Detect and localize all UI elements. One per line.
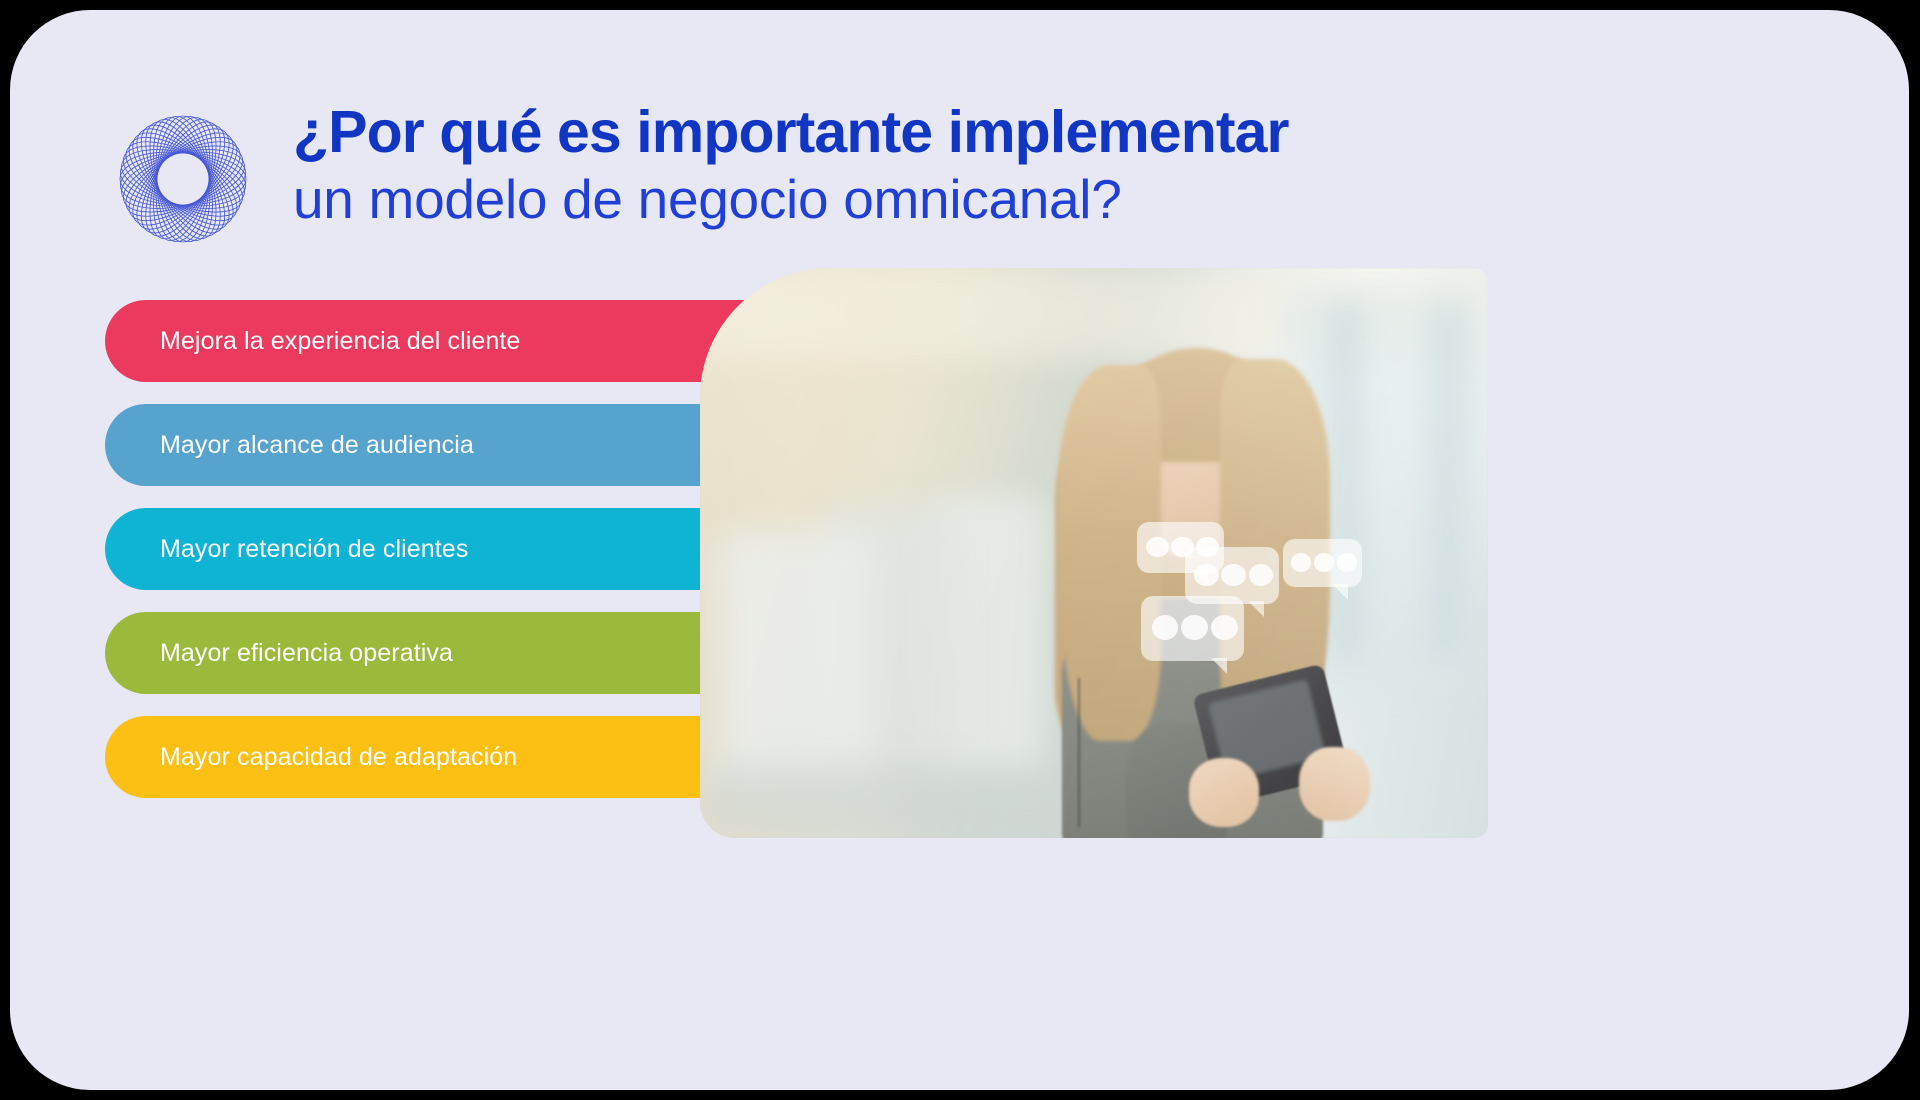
spirograph-ring-logo bbox=[102, 98, 264, 260]
chat-dot bbox=[1221, 564, 1246, 586]
page-title: ¿Por qué es importante implementar un mo… bbox=[293, 102, 1473, 232]
chat-dot bbox=[1146, 537, 1169, 556]
benefit-label: Mayor capacidad de adaptación bbox=[105, 743, 517, 772]
chat-dot bbox=[1211, 615, 1238, 640]
glass-mullion-shape bbox=[1439, 302, 1456, 655]
chat-dot bbox=[1291, 553, 1311, 571]
chat-dot bbox=[1194, 564, 1219, 586]
chat-bubble-icon bbox=[1141, 596, 1243, 662]
hero-photo bbox=[700, 268, 1488, 838]
woman-hand-right bbox=[1299, 747, 1370, 821]
office-chair-shape bbox=[716, 530, 874, 792]
chat-dot bbox=[1337, 553, 1357, 571]
benefit-label: Mayor eficiencia operativa bbox=[105, 639, 453, 668]
chat-bubble-icon bbox=[1283, 539, 1362, 587]
content-card: ¿Por qué es importante implementar un mo… bbox=[10, 10, 1909, 1090]
benefit-label: Mayor alcance de audiencia bbox=[105, 431, 474, 460]
chat-dot bbox=[1249, 564, 1274, 586]
glass-mullion-shape bbox=[1337, 302, 1354, 655]
chat-dot bbox=[1314, 553, 1334, 571]
title-line-1: ¿Por qué es importante implementar bbox=[293, 102, 1473, 163]
woman-hand-left bbox=[1189, 758, 1260, 826]
chat-dot bbox=[1181, 615, 1208, 640]
chat-dot bbox=[1152, 615, 1179, 640]
title-line-2: un modelo de negocio omnicanal? bbox=[293, 167, 1473, 232]
photo-composition bbox=[700, 268, 1488, 838]
benefit-label: Mejora la experiencia del cliente bbox=[105, 327, 520, 356]
benefit-label: Mayor retención de clientes bbox=[105, 535, 468, 564]
earphone-cable bbox=[1078, 678, 1080, 826]
slide-canvas: ¿Por qué es importante implementar un mo… bbox=[0, 0, 1920, 1100]
